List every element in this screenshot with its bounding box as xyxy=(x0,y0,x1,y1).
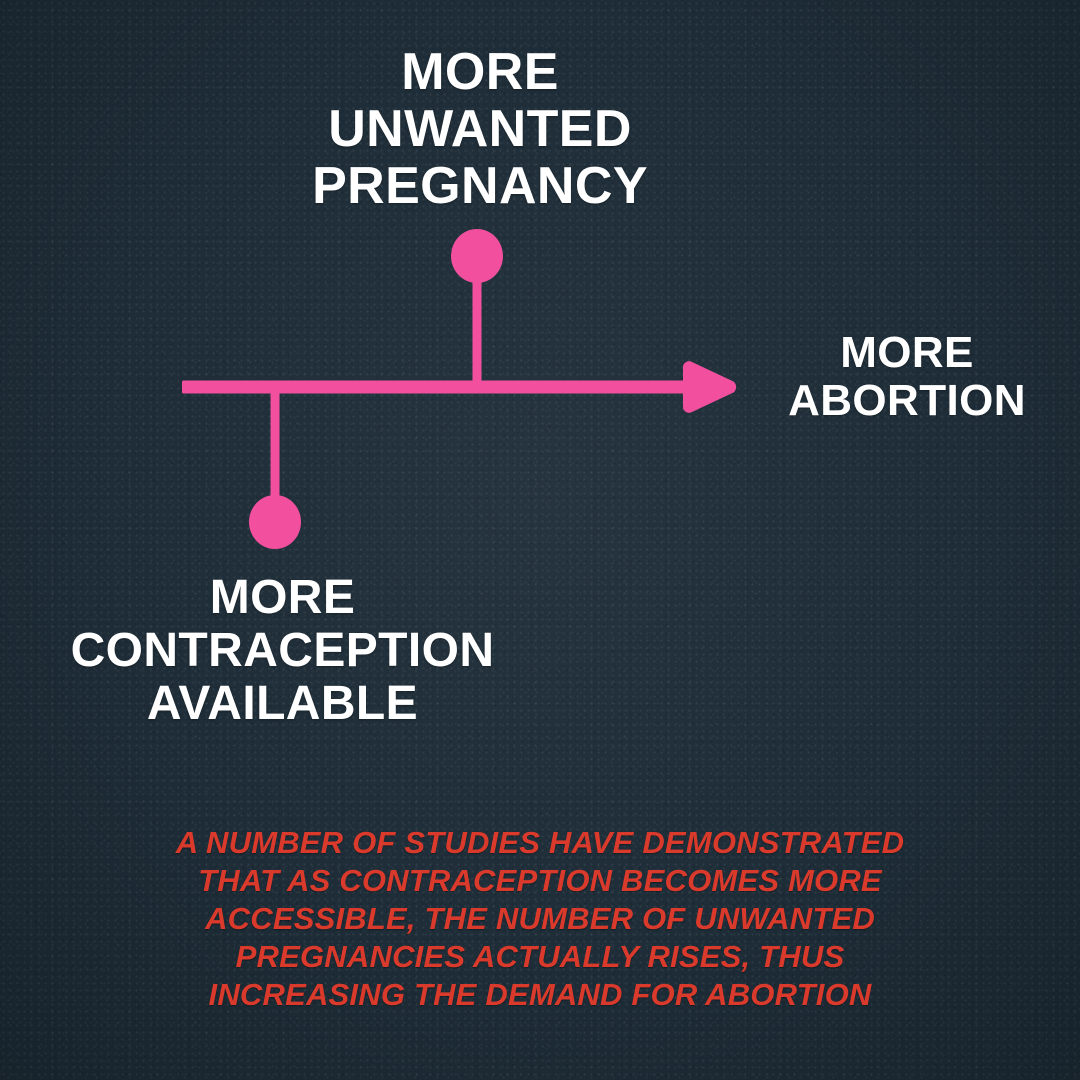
node-dot-contraception xyxy=(249,495,301,549)
infographic-canvas: MORE UNWANTED PREGNANCY MORE ABORTION MO… xyxy=(0,0,1080,1080)
label-more-abortion: MORE ABORTION xyxy=(752,329,1062,426)
label-more-unwanted-pregnancy: MORE UNWANTED PREGNANCY xyxy=(250,44,710,216)
arrowhead-icon xyxy=(683,361,736,413)
label-more-contraception-available: MORE CONTRACEPTION AVAILABLE xyxy=(55,572,510,730)
horizontal-arrow-shaft xyxy=(182,381,695,394)
caption-text: A NUMBER OF STUDIES HAVE DEMONSTRATED TH… xyxy=(130,824,950,1014)
node-dot-unwanted-pregnancy xyxy=(451,229,503,283)
